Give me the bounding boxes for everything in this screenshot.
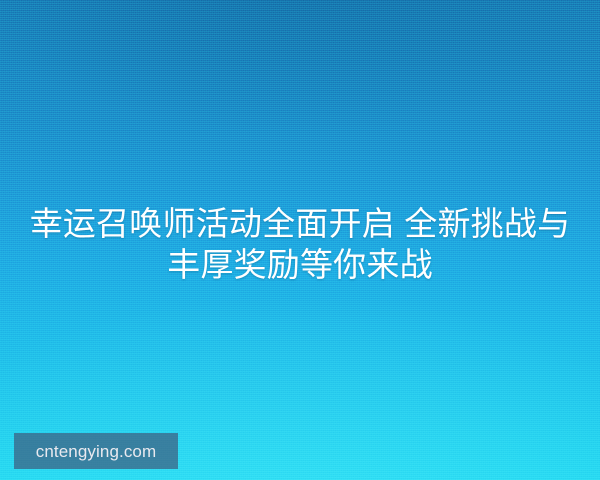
watermark-label: cntengying.com <box>36 443 156 460</box>
promotional-banner: 幸运召唤师活动全面开启 全新挑战与丰厚奖励等你来战 cntengying.com <box>0 0 600 480</box>
watermark-badge: cntengying.com <box>14 433 178 469</box>
headline-text: 幸运召唤师活动全面开启 全新挑战与丰厚奖励等你来战 <box>0 203 600 285</box>
